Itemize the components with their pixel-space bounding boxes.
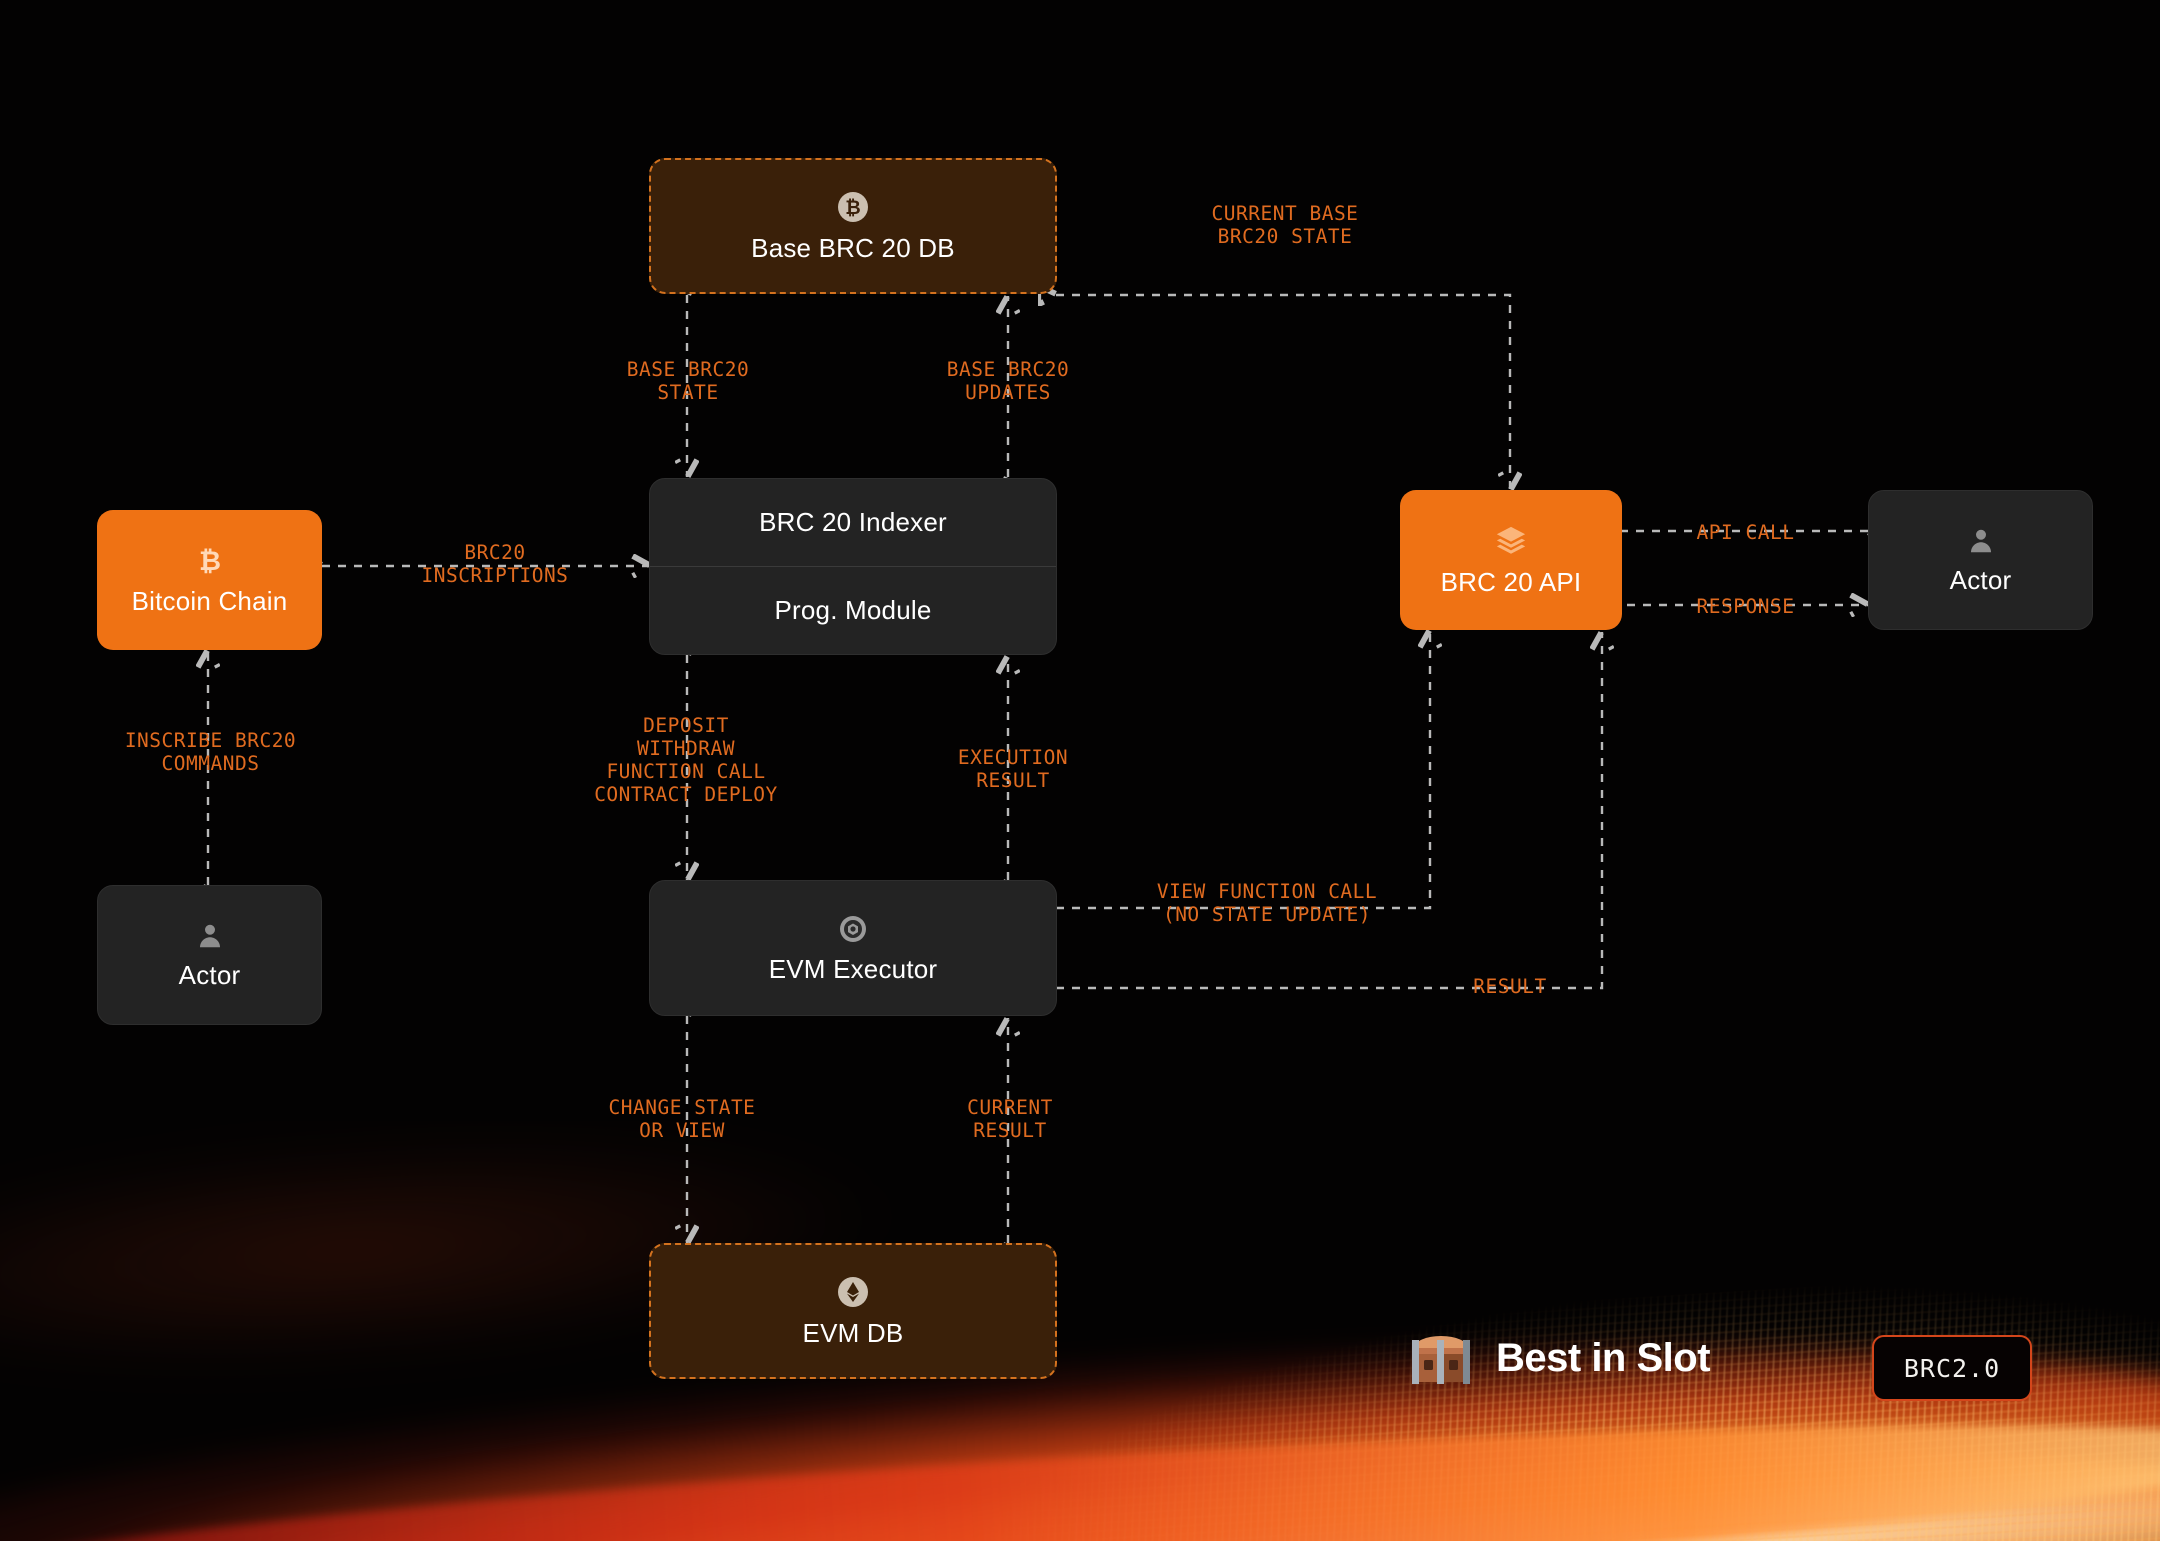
node-actor-left[interactable]: Actor (97, 885, 322, 1025)
version-badge-label: BRC2.0 (1904, 1354, 2000, 1383)
node-label: BRC 20 API (1441, 568, 1582, 597)
edge-label-execution-result: EXECUTION RESULT (920, 746, 1106, 792)
edge-label-current-base-brc20-state: CURRENT BASE BRC20 STATE (1200, 202, 1370, 248)
diagram-canvas: ₿ Base BRC 20 DB BRC 20 Indexer Prog. Mo… (0, 0, 2160, 1541)
gear-icon (837, 913, 869, 945)
node-evm-db[interactable]: EVM DB (649, 1243, 1057, 1379)
brand-lockup: Best in Slot (1408, 1328, 1710, 1388)
node-indexer-top[interactable]: BRC 20 Indexer (650, 479, 1056, 566)
node-sub-label: Prog. Module (774, 596, 931, 625)
version-badge[interactable]: BRC2.0 (1872, 1335, 2032, 1401)
edge-label-base-brc20-updates: BASE BRC20 UPDATES (924, 358, 1092, 404)
svg-text:₿: ₿ (198, 546, 220, 577)
person-icon (195, 921, 225, 951)
edge-label-current-result: CURRENT RESULT (925, 1096, 1095, 1142)
edge-label-response: RESPONSE (1673, 595, 1818, 618)
node-brc20-indexer[interactable]: BRC 20 Indexer Prog. Module (649, 478, 1057, 655)
edge-label-result: RESULT (1455, 975, 1565, 998)
bitcoin-icon: ₿ (836, 190, 870, 224)
ethereum-icon (836, 1275, 870, 1309)
node-label: EVM Executor (769, 955, 938, 984)
edge-label-change-state-or-view: CHANGE STATE OR VIEW (582, 1096, 782, 1142)
node-base-brc20-db[interactable]: ₿ Base BRC 20 DB (649, 158, 1057, 294)
node-actor-right[interactable]: Actor (1868, 490, 2093, 630)
node-label: EVM DB (803, 1319, 904, 1348)
edge-label-api-call: API CALL (1673, 521, 1818, 544)
edge-label-base-brc20-state: BASE BRC20 STATE (604, 358, 772, 404)
node-bitcoin-chain[interactable]: ₿ Bitcoin Chain (97, 510, 322, 650)
node-label: BRC 20 Indexer (759, 508, 947, 537)
treasure-chest-icon (1408, 1328, 1474, 1388)
svg-text:₿: ₿ (845, 197, 860, 219)
node-label: Bitcoin Chain (132, 587, 288, 616)
brand-name: Best in Slot (1496, 1336, 1710, 1381)
edge-label-view-function-call: VIEW FUNCTION CALL (NO STATE UPDATE) (1133, 880, 1401, 926)
node-label: Actor (179, 961, 241, 990)
edge-label-inscribe-brc20-commands: INSCRIBE BRC20 COMMANDS (103, 729, 318, 775)
node-prog-module[interactable]: Prog. Module (650, 566, 1056, 654)
node-evm-executor[interactable]: EVM Executor (649, 880, 1057, 1016)
layers-icon (1494, 524, 1528, 558)
node-label: Base BRC 20 DB (751, 234, 955, 263)
edge-label-brc20-inscriptions: BRC20 INSCRIPTIONS (400, 541, 590, 587)
person-icon (1966, 526, 1996, 556)
background-glow (0, 1121, 2160, 1541)
node-brc20-api[interactable]: BRC 20 API (1400, 490, 1622, 630)
bitcoin-icon: ₿ (194, 545, 226, 577)
edge-label-deposit-withdraw: DEPOSIT WITHDRAW FUNCTION CALL CONTRACT … (553, 714, 819, 806)
node-label: Actor (1950, 566, 2012, 595)
